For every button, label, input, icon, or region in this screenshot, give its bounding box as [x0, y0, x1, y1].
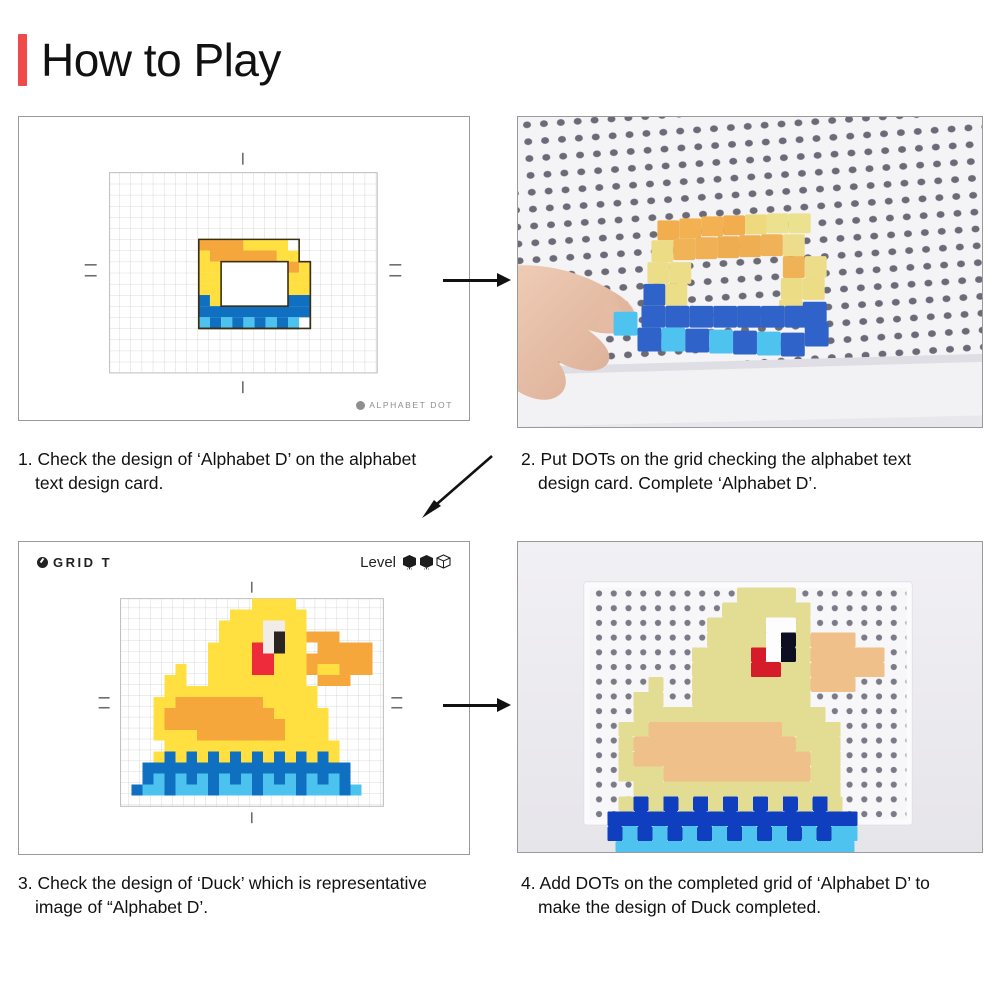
caption-step-3: 3. Check the design of ‘Duck’ which is r…	[18, 872, 488, 919]
caption-line-1: Add DOTs on the completed grid of ‘Alpha…	[540, 873, 930, 893]
caption-line-2: design card. Complete ‘Alphabet D’.	[521, 472, 991, 496]
caption-number: 4.	[521, 873, 536, 893]
caption-line-2: image of “Alphabet D’.	[18, 896, 488, 920]
photo-hand-pegboard	[518, 117, 982, 427]
panel-photo-completed-duck	[517, 541, 983, 853]
photo-completed-duck-pegboard	[518, 542, 982, 852]
caption-step-2: 2. Put DOTs on the grid checking the alp…	[521, 448, 991, 495]
caption-number: 1.	[18, 449, 33, 469]
duck-grid-figure	[19, 542, 469, 854]
caption-number: 3.	[18, 873, 33, 893]
arrow-shaft	[443, 279, 499, 282]
arrow-step-1-to-2	[443, 273, 511, 287]
caption-line-1: Check the design of ‘Alphabet D’ on the …	[37, 449, 416, 469]
caption-line-1: Check the design of ‘Duck’ which is repr…	[37, 873, 426, 893]
caption-step-1: 1. Check the design of ‘Alphabet D’ on t…	[18, 448, 488, 495]
caption-line-2: text design card.	[18, 472, 488, 496]
alphabet-dot-logo: ALPHABET DOT	[356, 400, 453, 410]
arrow-shaft	[443, 704, 499, 707]
caption-step-4: 4. Add DOTs on the completed grid of ‘Al…	[521, 872, 991, 919]
caption-line-1: Put DOTs on the grid checking the alphab…	[540, 449, 911, 469]
page-title: How to Play	[18, 34, 281, 86]
alphabet-dot-label: ALPHABET DOT	[369, 400, 453, 410]
letter-d-pixels	[199, 239, 311, 328]
arrow-head-icon	[497, 698, 511, 712]
panel-duck-design-card: GRID T Level	[18, 541, 470, 855]
arrow-head-icon	[497, 273, 511, 287]
page-title-text: How to Play	[41, 37, 281, 83]
dot-mark-icon	[356, 401, 365, 410]
panel-photo-placing-dots	[517, 116, 983, 428]
caption-number: 2.	[521, 449, 536, 469]
alphabet-d-grid-figure	[19, 117, 469, 420]
caption-line-2: make the design of Duck completed.	[521, 896, 991, 920]
panel-alphabet-design-card: ALPHABET DOT	[18, 116, 470, 421]
title-accent-bar	[18, 34, 27, 86]
arrow-step-3-to-4	[443, 698, 511, 712]
